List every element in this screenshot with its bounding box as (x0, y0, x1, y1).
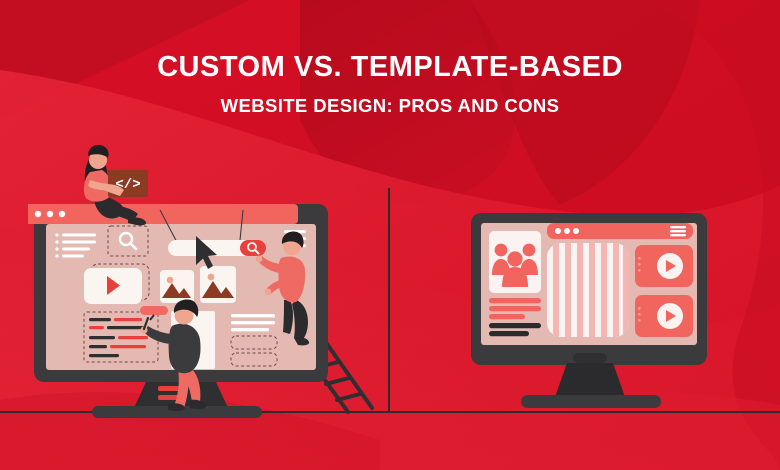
window-dot (59, 211, 65, 217)
video-card-1 (635, 245, 693, 287)
monitor-stand (555, 363, 625, 397)
image-card-widget-2 (200, 266, 236, 303)
striped-content-panel (547, 243, 629, 337)
window-dot (564, 228, 570, 234)
hamburger-icon (670, 226, 686, 236)
video-card-2 (635, 295, 693, 337)
window-dot (47, 211, 53, 217)
window-dot (573, 228, 579, 234)
window-bar-panel (547, 223, 693, 239)
custom-design-illustration: </> (28, 140, 388, 420)
monitor-base (521, 395, 661, 408)
window-dot (35, 211, 41, 217)
title-line-1: CUSTOM VS. TEMPLATE-BASED (0, 52, 780, 82)
title-line-2: WEBSITE DESIGN: PROS AND CONS (0, 96, 780, 116)
window-dot (555, 228, 561, 234)
template-design-illustration (455, 195, 725, 413)
video-card-widget (84, 264, 149, 304)
image-card-widget-1 (160, 270, 194, 303)
poster-title: CUSTOM VS. TEMPLATE-BASED WEBSITE DESIGN… (0, 52, 780, 117)
vertical-separator (388, 188, 390, 412)
browser-title-bar (28, 204, 298, 224)
side-text-lines-widget (231, 314, 275, 331)
poster-canvas: CUSTOM VS. TEMPLATE-BASED WEBSITE DESIGN… (0, 0, 780, 470)
